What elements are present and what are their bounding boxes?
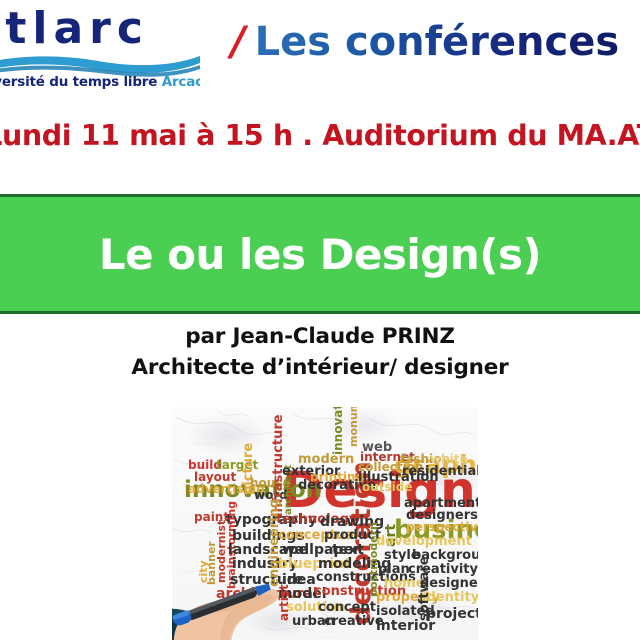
word-cloud-word: development <box>376 535 472 548</box>
word-cloud-word: plan <box>378 563 410 576</box>
speaker-block: par Jean-Claude PRINZ Architecte d’intér… <box>0 322 640 383</box>
utlarc-logo: utlarc université du temps libre Arcacho… <box>0 4 200 90</box>
event-date-line: Lundi 11 mai à 15 h . Auditorium du MA.A… <box>0 107 640 163</box>
header-title-text: Les conférences <box>255 19 620 65</box>
poster-header: utlarc université du temps libre Arcacho… <box>0 0 640 100</box>
word-cloud-word: concept <box>318 601 376 614</box>
speaker-name: par Jean-Claude PRINZ <box>0 322 640 352</box>
word-cloud-image: Designgraphicinnovationbusinessdecoratio… <box>172 407 478 640</box>
logo-tagline-main: université du temps libre <box>0 74 157 90</box>
header-title: /Les conférences <box>231 16 619 68</box>
event-date-text: Lundi 11 mai à 15 h . Auditorium du MA.A… <box>0 119 640 152</box>
logo-wordmark: utlarc <box>0 4 149 54</box>
word-cloud-word: innovate <box>332 407 344 455</box>
logo-tagline: université du temps libre Arcachon <box>0 74 200 90</box>
word-cloud-word: interior <box>376 619 435 633</box>
conference-title: Le ou les Design(s) <box>99 230 541 279</box>
word-cloud-word: monumental <box>348 407 359 447</box>
word-cloud-word: outside <box>362 481 413 493</box>
word-cloud-word: residential <box>402 465 478 478</box>
word-cloud-word: perspective <box>406 521 478 533</box>
speaker-role: Architecte d’intérieur/ designer <box>0 352 640 383</box>
logo-tagline-city: Arcachon <box>162 74 200 90</box>
word-cloud-word: creative <box>324 615 384 628</box>
conference-title-banner: Le ou les Design(s) <box>0 194 640 314</box>
word-cloud-word: text <box>332 543 364 557</box>
hand-holding-pen-icon <box>172 560 294 640</box>
slash-separator: / <box>231 19 246 65</box>
